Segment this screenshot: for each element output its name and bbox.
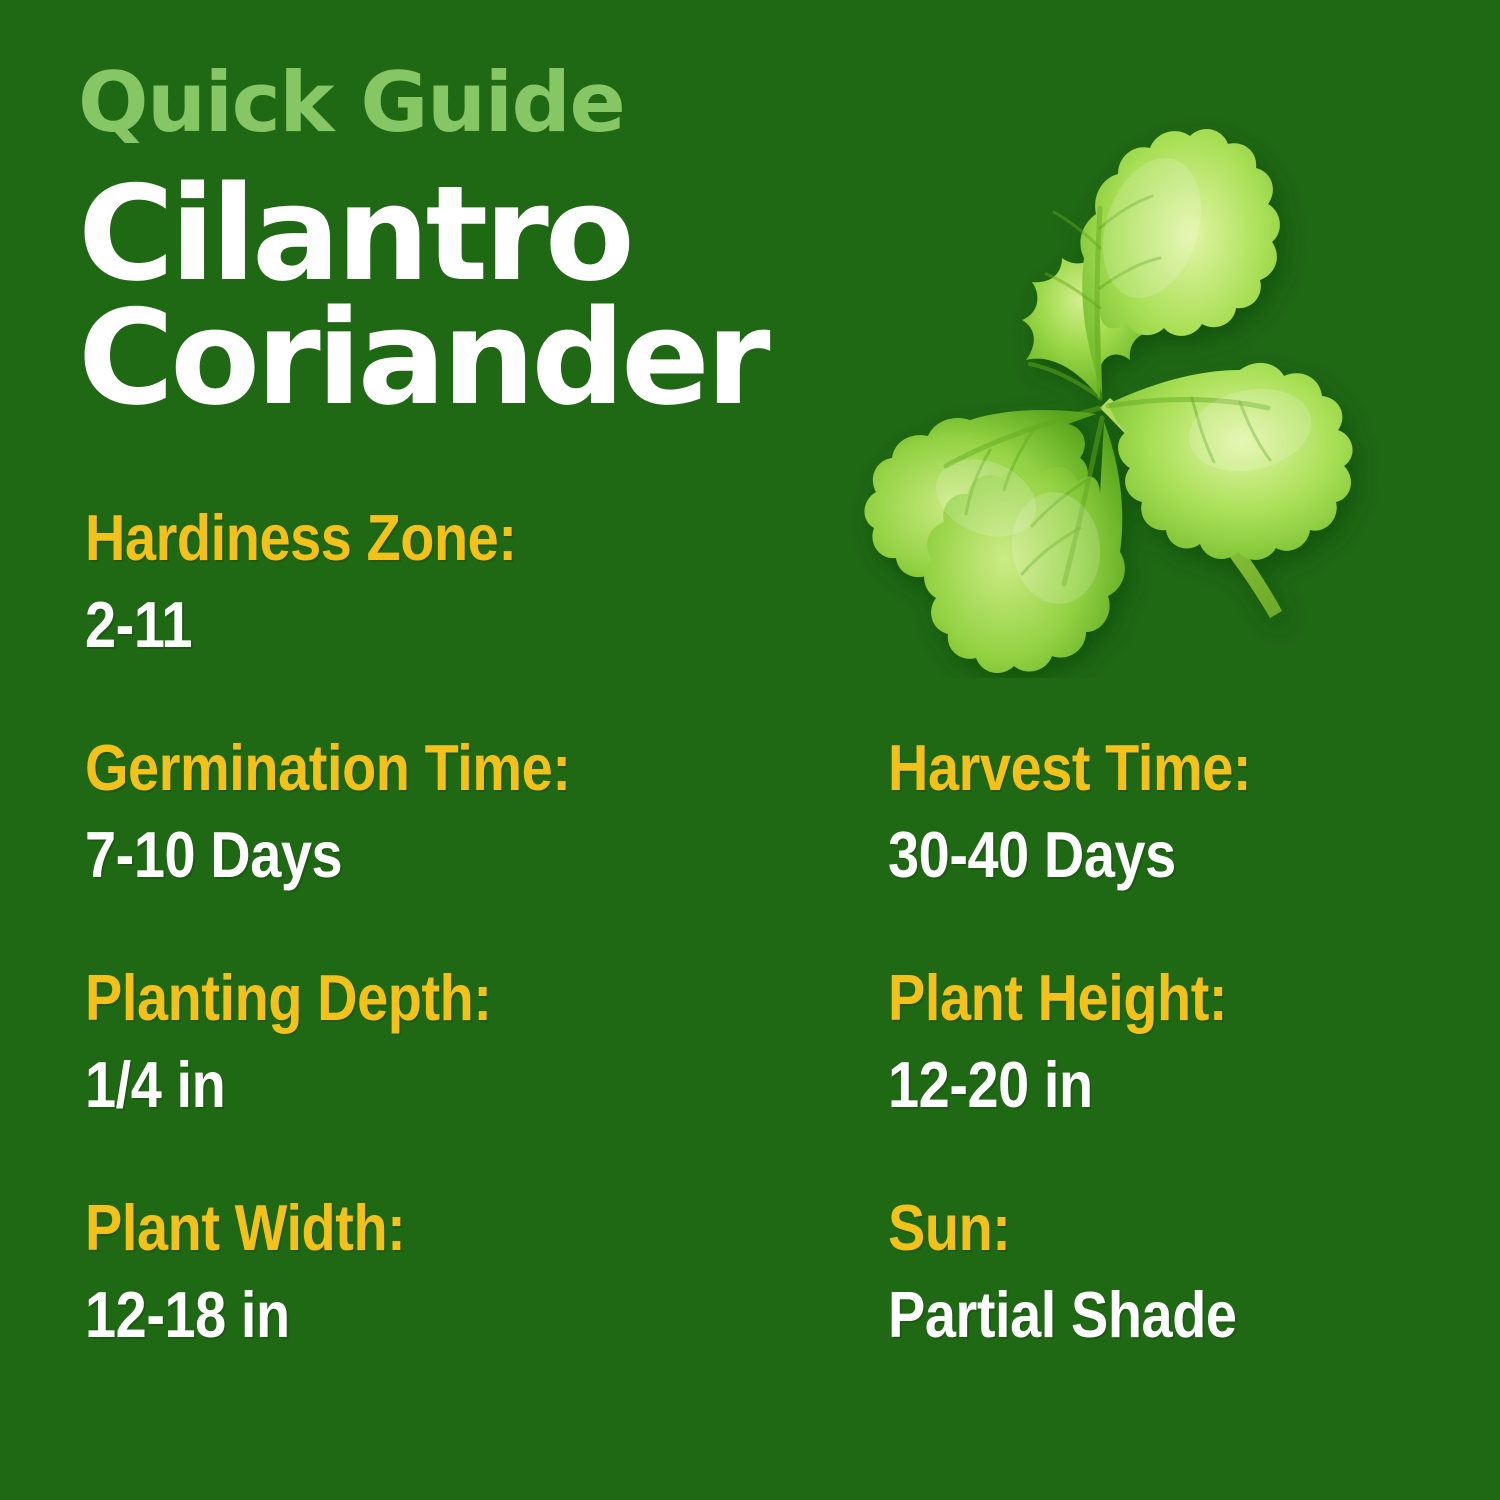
fact-value: 2-11 bbox=[85, 592, 756, 657]
fact-value: 12-20 in bbox=[888, 1052, 1370, 1117]
fact-label: Harvest Time: bbox=[888, 735, 1370, 800]
fact-row: Planting Depth: 1/4 in Plant Height: 12-… bbox=[0, 965, 1500, 1195]
fact-harvest-time: Harvest Time: 30-40 Days bbox=[888, 735, 1448, 887]
fact-label: Hardiness Zone: bbox=[85, 505, 756, 570]
fact-germination-time: Germination Time: 7-10 Days bbox=[85, 735, 865, 887]
fact-value: 12-18 in bbox=[85, 1282, 756, 1347]
plant-title-secondary: Coriander bbox=[78, 297, 778, 419]
quick-guide-poster: Quick Guide Cilantro Coriander bbox=[0, 0, 1500, 1500]
fact-label: Plant Width: bbox=[85, 1195, 756, 1260]
fact-label: Sun: bbox=[888, 1195, 1370, 1260]
fact-row: Plant Width: 12-18 in Sun: Partial Shade bbox=[0, 1195, 1500, 1425]
fact-value: 7-10 Days bbox=[85, 822, 756, 887]
fact-label: Germination Time: bbox=[85, 735, 756, 800]
plant-facts-grid: Hardiness Zone: 2-11 Germination Time: 7… bbox=[0, 505, 1500, 1425]
plant-title-primary: Cilantro bbox=[78, 173, 778, 295]
fact-plant-width: Plant Width: 12-18 in bbox=[85, 1195, 865, 1347]
fact-value: 1/4 in bbox=[85, 1052, 756, 1117]
poster-header: Quick Guide Cilantro Coriander bbox=[78, 64, 778, 419]
fact-value: Partial Shade bbox=[888, 1282, 1370, 1347]
fact-label: Plant Height: bbox=[888, 965, 1370, 1030]
fact-planting-depth: Planting Depth: 1/4 in bbox=[85, 965, 865, 1117]
fact-sun: Sun: Partial Shade bbox=[888, 1195, 1448, 1347]
fact-value: 30-40 Days bbox=[888, 822, 1370, 887]
fact-row: Germination Time: 7-10 Days Harvest Time… bbox=[0, 735, 1500, 965]
fact-row: Hardiness Zone: 2-11 bbox=[0, 505, 1500, 735]
fact-hardiness-zone: Hardiness Zone: 2-11 bbox=[85, 505, 865, 657]
fact-label: Planting Depth: bbox=[85, 965, 756, 1030]
fact-plant-height: Plant Height: 12-20 in bbox=[888, 965, 1448, 1117]
eyebrow-quick-guide: Quick Guide bbox=[78, 64, 778, 143]
